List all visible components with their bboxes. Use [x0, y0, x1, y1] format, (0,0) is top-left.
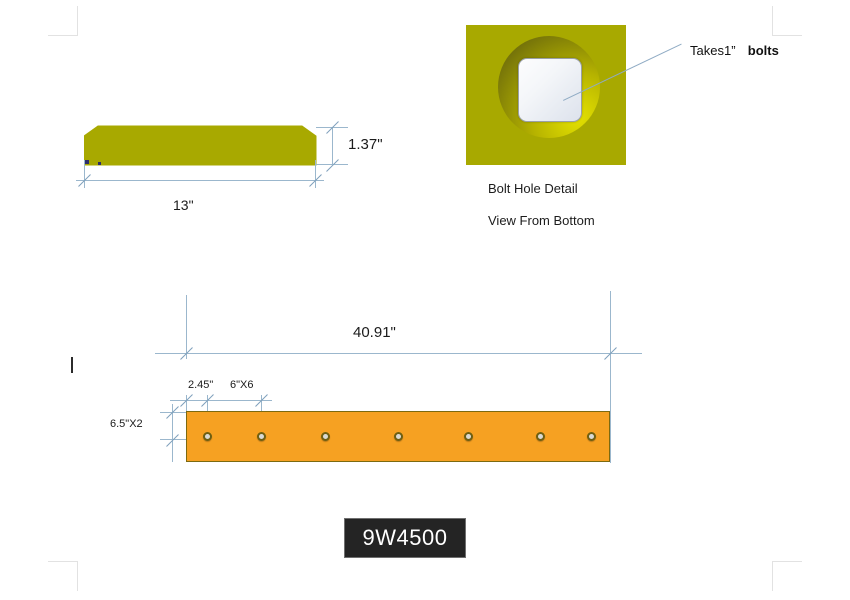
dim-line-width [76, 180, 324, 181]
dim-label-overall-length: 40.91" [353, 324, 396, 341]
ext-line-overall-right [610, 291, 611, 463]
bolt-head-recess [518, 58, 582, 122]
bolt-hole-5 [464, 432, 473, 441]
ext-line-width-right [315, 160, 316, 188]
drawing-sheet: 1.37" 13" Takes1” bolts Bolt Hole Detail… [0, 0, 850, 600]
dim-line-thickness [332, 127, 333, 165]
crop-mark-bottom-right [772, 561, 802, 591]
bolt-hole-2 [257, 432, 266, 441]
caption-bolt-hole-detail: Bolt Hole Detail [488, 181, 578, 196]
bolt-callout-word: bolts [748, 43, 779, 58]
crop-mark-top-right [772, 6, 802, 36]
bolt-hole-6 [536, 432, 545, 441]
margin-tick-mark [71, 357, 73, 373]
ext-line-overall-left [186, 295, 187, 359]
side-profile-shape [84, 124, 320, 173]
crop-mark-top-left [48, 6, 78, 36]
caption-view-from-bottom: View From Bottom [488, 213, 595, 228]
bolt-hole-3 [321, 432, 330, 441]
bolt-callout-size: Takes1” [690, 43, 736, 58]
dim-label-edge-offset: 2.45" [188, 379, 213, 391]
dim-label-width: 13" [173, 197, 194, 213]
dim-label-edge-distance: 6.5"X2 [110, 418, 143, 430]
dim-label-hole-spacing: 6"X6 [230, 379, 253, 391]
bolt-hole-1 [203, 432, 212, 441]
dim-label-thickness: 1.37" [348, 136, 383, 153]
part-number-label: 9W4500 [363, 525, 448, 551]
crop-mark-bottom-left [48, 561, 78, 591]
bolt-hole-4 [394, 432, 403, 441]
bolt-callout-note: Takes1” bolts [690, 43, 779, 58]
dim-line-overall [155, 353, 642, 354]
bolt-hole-7 [587, 432, 596, 441]
title-block-plate: 9W4500 [344, 518, 466, 558]
ext-line-width-left [84, 160, 85, 188]
